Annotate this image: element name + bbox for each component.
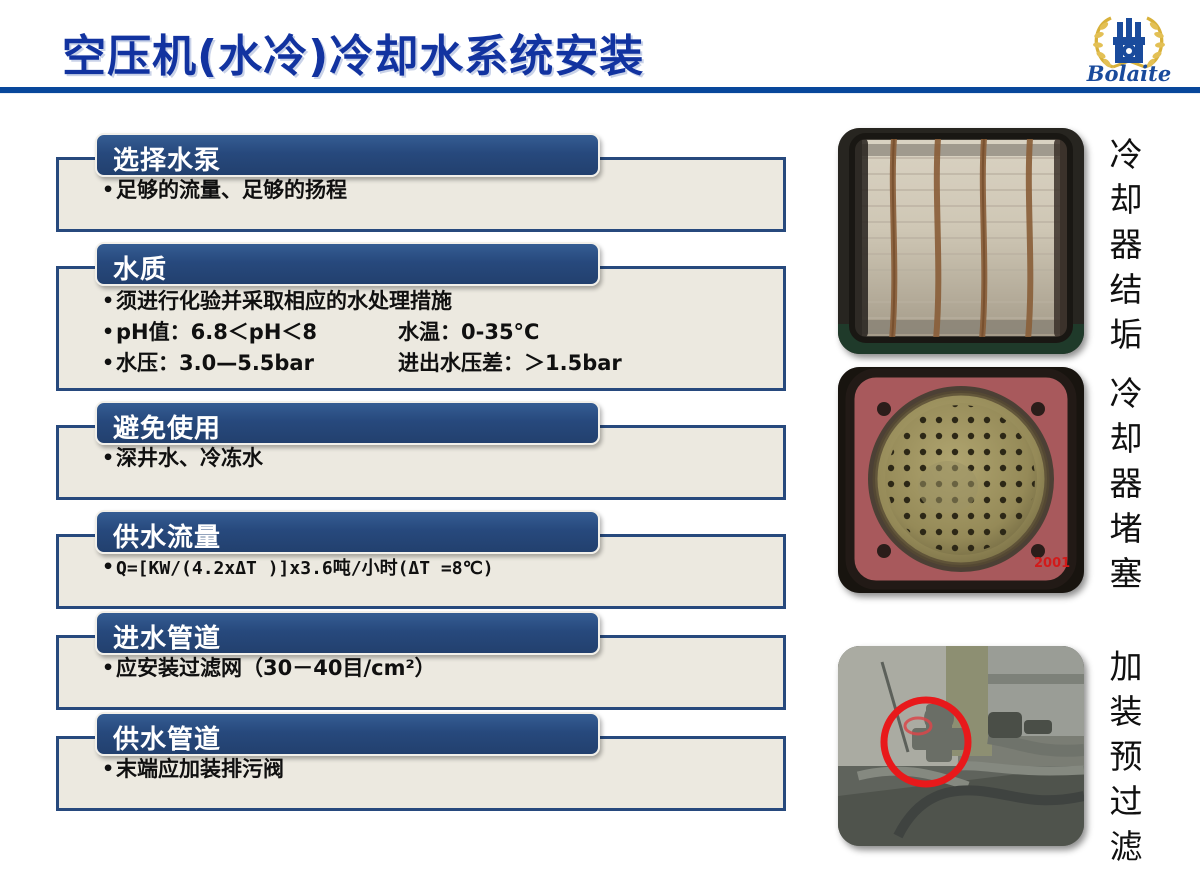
bullet-item: •须进行化验并采取相应的水处理措施	[102, 286, 772, 317]
bullet-text-col1: 深井水、冷冻水	[116, 443, 263, 474]
photo-column: 冷却器结垢	[820, 0, 1200, 858]
bullet-item: •末端应加装排污阀	[102, 754, 772, 785]
section-supply-pipe: 供水管道 •末端应加装排污阀	[56, 736, 786, 811]
bullet-item: •Q=[KW/(4.2xΔT )]x3.6吨/小时(ΔT =8℃)	[102, 552, 772, 584]
section-header-bar[interactable]: 选择水泵	[95, 133, 600, 177]
slide-root: 空压机(水冷)冷却水系统安装	[0, 0, 1200, 858]
sections-column: 选择水泵 •足够的流量、足够的扬程 水质 •须进行化验并采取相应的水处理措施 •…	[0, 0, 820, 858]
section-header-bar[interactable]: 水质	[95, 242, 600, 286]
section-bullets: •深井水、冷冻水	[102, 443, 772, 474]
section-inlet-pipe: 进水管道 •应安装过滤网（30－40目/cm²）	[56, 635, 786, 710]
bullet-text-col1: 足够的流量、足够的扬程	[116, 175, 347, 206]
bullet-dot: •	[102, 175, 116, 206]
photo-frame[interactable]	[838, 128, 1084, 354]
bullet-text-col2: 进出水压差：＞1.5bar	[398, 348, 622, 379]
section-bullets: •末端应加装排污阀	[102, 754, 772, 785]
cooler-scaling-photo	[838, 128, 1084, 354]
section-bullets: •须进行化验并采取相应的水处理措施 •pH值：6.8＜pH＜8水温：0-35°C…	[102, 286, 772, 379]
section-header-bar[interactable]: 避免使用	[95, 401, 600, 445]
photo-label: 加装预过滤	[1100, 644, 1152, 869]
section-bullets: •足够的流量、足够的扬程	[102, 175, 772, 206]
section-header-label: 选择水泵	[113, 140, 221, 177]
bullet-dot: •	[102, 653, 116, 684]
section-header-label: 水质	[113, 249, 167, 286]
section-select-pump: 选择水泵 •足够的流量、足够的扬程	[56, 157, 786, 232]
svg-text:2001: 2001	[1034, 556, 1070, 571]
section-header-bar[interactable]: 进水管道	[95, 611, 600, 655]
section-supply-flow: 供水流量 •Q=[KW/(4.2xΔT )]x3.6吨/小时(ΔT =8℃)	[56, 534, 786, 609]
bullet-dot: •	[102, 348, 116, 379]
section-avoid-use: 避免使用 •深井水、冷冻水	[56, 425, 786, 500]
section-header-bar[interactable]: 供水管道	[95, 712, 600, 756]
section-header-label: 避免使用	[113, 408, 221, 445]
photo-label: 冷却器结垢	[1100, 132, 1152, 357]
bullet-item: •深井水、冷冻水	[102, 443, 772, 474]
section-header-label: 供水管道	[113, 719, 221, 756]
section-bullets: •应安装过滤网（30－40目/cm²）	[102, 653, 772, 684]
photo-label: 冷却器堵塞	[1100, 371, 1152, 596]
section-water-quality: 水质 •须进行化验并采取相应的水处理措施 •pH值：6.8＜pH＜8水温：0-3…	[56, 266, 786, 391]
bullet-dot: •	[102, 286, 116, 317]
bullet-dot: •	[102, 754, 116, 785]
bullet-text-col1: 水压：3.0—5.5bar	[116, 348, 366, 379]
section-header-label: 进水管道	[113, 618, 221, 655]
bullet-item: •pH值：6.8＜pH＜8水温：0-35°C	[102, 317, 772, 348]
bullet-item: •应安装过滤网（30－40目/cm²）	[102, 653, 772, 684]
section-bullets: •Q=[KW/(4.2xΔT )]x3.6吨/小时(ΔT =8℃)	[102, 552, 772, 584]
bullet-text-col2: 水温：0-35°C	[398, 317, 539, 348]
bullet-text-col1: 须进行化验并采取相应的水处理措施	[116, 286, 452, 317]
photo-frame[interactable]: 2001	[838, 367, 1084, 593]
bullet-item: •水压：3.0—5.5bar进出水压差：＞1.5bar	[102, 348, 772, 379]
cooler-blockage-photo: 2001	[838, 367, 1084, 593]
bullet-dot: •	[102, 552, 116, 583]
pre-filter-install-photo	[838, 646, 1084, 846]
bullet-text-col1: 应安装过滤网（30－40目/cm²）	[116, 653, 436, 684]
section-header-label: 供水流量	[113, 517, 221, 554]
section-header-bar[interactable]: 供水流量	[95, 510, 600, 554]
bullet-text-col1: Q=[KW/(4.2xΔT )]x3.6吨/小时(ΔT =8℃)	[116, 553, 494, 584]
bullet-text-col1: 末端应加装排污阀	[116, 754, 284, 785]
bullet-item: •足够的流量、足够的扬程	[102, 175, 772, 206]
bullet-dot: •	[102, 317, 116, 348]
bullet-text-col1: pH值：6.8＜pH＜8	[116, 317, 366, 348]
bullet-dot: •	[102, 443, 116, 474]
photo-frame[interactable]	[838, 646, 1084, 846]
